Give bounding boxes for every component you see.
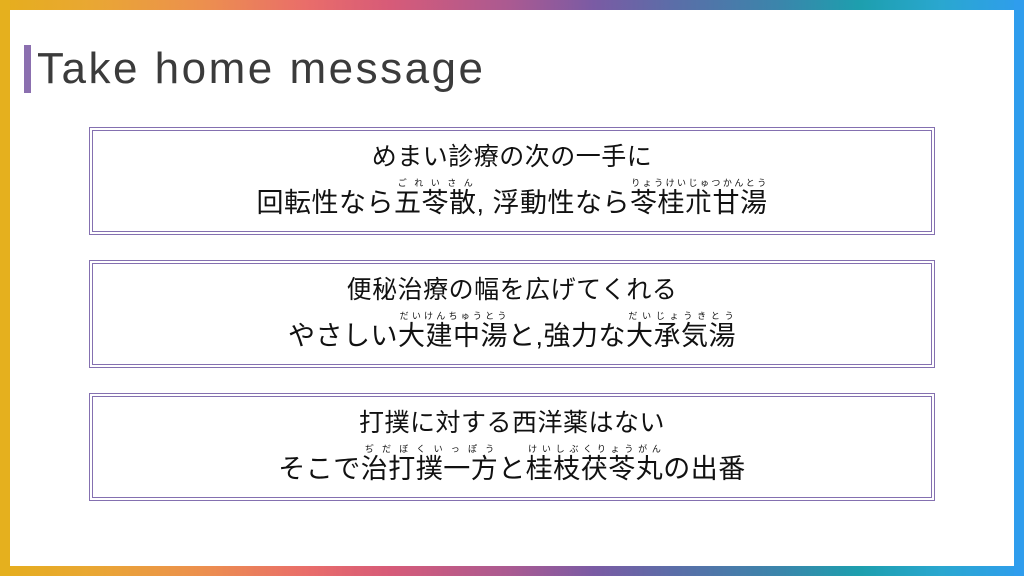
message-box-1-line-2: 回転性なら五苓散ごれいさん, 浮動性なら苓桂朮甘湯りょうけいじゅつかんとう [256, 178, 767, 220]
furigana: りょうけいじゅつかんとう [630, 178, 767, 188]
message-box-2: 便秘治療の幅を広げてくれる やさしい大建中湯だいけんちゅうとうと,強力な大承気湯… [92, 263, 932, 365]
plain-text: の出番 [663, 454, 746, 484]
plain-text: そこで [278, 454, 361, 484]
message-box-3: 打撲に対する西洋薬はない そこで治打撲一方ぢだぼくいっぽうと桂枝茯苓丸けいしぶく… [92, 396, 932, 498]
furigana: だいじょうきとう [626, 311, 736, 321]
plain-text: 回転性なら [256, 188, 394, 218]
ruby-term: 大建中湯だいけんちゅうとう [398, 321, 508, 351]
ruby-term: 五苓散ごれいさん [394, 188, 477, 218]
furigana: ごれいさん [394, 178, 476, 188]
message-box-2-line-2: やさしい大建中湯だいけんちゅうとうと,強力な大承気湯だいじょうきとう [288, 311, 736, 353]
frame-bottom-gradient [0, 566, 1024, 576]
plain-text: と,強力な [508, 321, 626, 351]
message-box-2-line-1: 便秘治療の幅を広げてくれる [347, 275, 678, 306]
ruby-term: 大承気湯だいじょうきとう [626, 321, 736, 351]
message-box-3-line-2: そこで治打撲一方ぢだぼくいっぽうと桂枝茯苓丸けいしぶくりょうがんの出番 [278, 444, 746, 486]
message-box-1-line-1: めまい診療の次の一手に [372, 142, 653, 173]
title-text: Take home message [37, 47, 486, 91]
ruby-term: 桂枝茯苓丸けいしぶくりょうがん [526, 454, 664, 484]
ruby-term: 治打撲一方ぢだぼくいっぽう [361, 454, 499, 484]
furigana: ぢだぼくいっぽう [361, 444, 498, 454]
frame-top-gradient [0, 0, 1024, 10]
page-title: Take home message [24, 38, 486, 100]
furigana: だいけんちゅうとう [398, 311, 508, 321]
frame-left-bar [0, 0, 10, 576]
message-box-1: めまい診療の次の一手に 回転性なら五苓散ごれいさん, 浮動性なら苓桂朮甘湯りょう… [92, 130, 932, 232]
plain-text: , 浮動性なら [476, 188, 630, 218]
furigana: けいしぶくりょうがん [526, 444, 663, 454]
message-box-3-line-1: 打撲に対する西洋薬はない [359, 408, 665, 439]
title-accent-bar [24, 45, 31, 93]
message-box-list: めまい診療の次の一手に 回転性なら五苓散ごれいさん, 浮動性なら苓桂朮甘湯りょう… [92, 130, 932, 498]
frame-right-bar [1014, 0, 1024, 576]
plain-text: やさしい [288, 321, 398, 351]
plain-text: と [498, 454, 526, 484]
slide: Take home message めまい診療の次の一手に 回転性なら五苓散ごれ… [0, 0, 1024, 576]
ruby-term: 苓桂朮甘湯りょうけいじゅつかんとう [630, 188, 768, 218]
